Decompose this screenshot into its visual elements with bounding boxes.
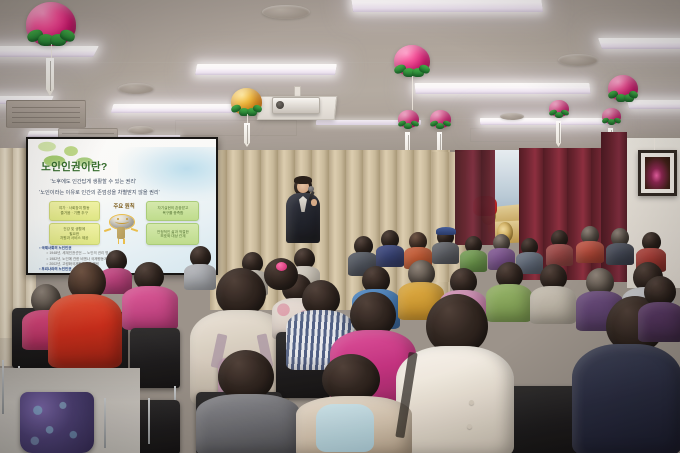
audience-member: [460, 236, 487, 269]
audience-body-red-jacket: [48, 294, 122, 368]
audience-body: [196, 394, 300, 453]
audience-body: [530, 286, 576, 324]
chair-leg: [104, 398, 106, 448]
mascot-arm-right: [131, 228, 138, 232]
audience-head: [426, 294, 488, 354]
mascot-leg-right: [123, 239, 125, 244]
speaker: [282, 176, 324, 242]
audience-head: [322, 354, 380, 402]
audience-member: [606, 228, 634, 262]
audience-body-navy: [572, 344, 680, 453]
lotus-lantern: [430, 110, 451, 134]
ceiling-light: [598, 38, 680, 49]
projector-lens: [276, 101, 284, 109]
slide-mascot-figure: [109, 214, 133, 239]
speaker-hair-front: [294, 176, 312, 184]
audience-member: [530, 264, 576, 320]
audience-member: [432, 228, 459, 261]
photo-scene: 노인인권이란? '노후에도 인간답게 생활할 수 있는 권리' '노인이라는 이…: [0, 0, 680, 453]
ceiling-light: [480, 118, 611, 125]
mascot-arm-left: [104, 228, 111, 232]
lotus-lantern: [398, 110, 419, 134]
slide-title: 노인인권이란?: [41, 159, 107, 174]
lantern-tag: [244, 123, 250, 147]
lotus-lantern: [608, 75, 638, 109]
audience-body: [122, 286, 178, 330]
ceiling-panel: [470, 128, 562, 142]
chair-leg: [2, 360, 4, 414]
lotus-lantern: [602, 108, 621, 130]
lantern-string: [247, 114, 248, 124]
audience-member: [48, 262, 122, 362]
backpack-on-floor: [20, 392, 94, 453]
hair-clip: [276, 262, 287, 271]
ceiling-light: [351, 0, 543, 12]
mascot-smile: [115, 219, 129, 224]
audience-body: [638, 302, 680, 342]
ceiling-vent: [6, 100, 86, 128]
lantern-tag: [556, 121, 561, 147]
audience-body: [546, 244, 573, 266]
lantern-tag: [46, 58, 54, 96]
audience-member: [546, 230, 573, 263]
ceiling-speaker: [128, 126, 154, 134]
audience-head: [218, 350, 274, 400]
jacket-button: [467, 424, 472, 429]
picture-hook-string: [654, 138, 655, 150]
ceiling-speaker: [118, 83, 154, 94]
mascot-body: [117, 227, 126, 239]
light-blue-scarf: [316, 404, 374, 452]
audience-member: [376, 230, 404, 264]
lotus-lantern: [549, 100, 569, 123]
slide-quote-line2: '노인이라는 이유로 인간의 존엄성을 차별받지 않을 권리': [39, 189, 159, 196]
jacket-button: [469, 400, 474, 405]
audience-member: [122, 262, 178, 326]
ceiling-light: [414, 83, 590, 94]
speaker-hand: [311, 199, 317, 206]
slide-box-bottom-right: 안정적인 삶과 적절한 보호와 대상 관계: [146, 223, 199, 244]
audience-member: [196, 350, 300, 453]
slide-box-bottom-left: 건강 및 생활에 필요한 자원과 서비스 제공: [49, 223, 100, 244]
chair-leg: [148, 398, 150, 444]
slide-quote-line1: '노후에도 인간답게 생활할 수 있는 권리': [51, 178, 137, 185]
audience-member: [638, 276, 680, 338]
audience-body: [576, 241, 604, 263]
slide-center-label: 주요 원칙: [101, 201, 146, 215]
ceiling-light: [195, 64, 337, 75]
slide-box-top-left: 여가 · 사회참여 활동 즐거움 · 기쁨 추구: [49, 201, 100, 221]
lantern-string: [51, 44, 52, 60]
mascot-leg-left: [118, 239, 120, 244]
lantern-string: [412, 76, 413, 110]
maroon-curtain: [455, 150, 495, 245]
framed-picture: [638, 150, 677, 196]
ceiling-panel: [175, 120, 297, 136]
ceiling-speaker: [262, 5, 310, 19]
audience-member: [576, 226, 604, 260]
ceiling-light: [111, 104, 239, 113]
picture-image: [645, 157, 670, 189]
ceiling-speaker: [500, 113, 524, 120]
audience-cap: [436, 227, 456, 235]
ceiling-speaker: [558, 54, 598, 66]
slide-box-top-right: 자기실현의 존중받고 욕구를 충족함: [146, 201, 199, 221]
